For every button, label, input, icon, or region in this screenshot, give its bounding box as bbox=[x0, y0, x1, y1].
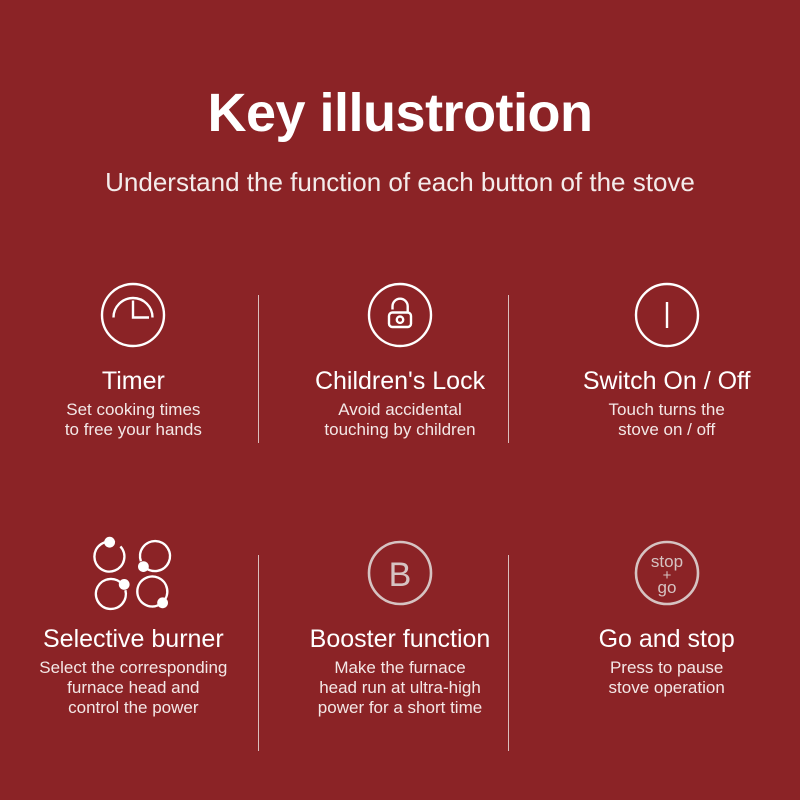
four-burners-icon bbox=[92, 530, 174, 616]
key-illustration-poster: Key illustrotion Understand the function… bbox=[0, 0, 800, 800]
header: Key illustrotion Understand the function… bbox=[0, 0, 800, 197]
feature-description: Avoid accidental touching by children bbox=[324, 400, 475, 440]
go-label: go bbox=[657, 578, 676, 597]
stop-go-icon: stop + go bbox=[630, 530, 704, 616]
desc-line: Touch turns the bbox=[609, 400, 725, 420]
desc-line: Press to pause bbox=[609, 658, 725, 678]
feature-title: Selective burner bbox=[43, 626, 224, 652]
feature-item-selective-burner: Selective burner Select the correspondin… bbox=[0, 530, 267, 770]
desc-line: Make the furnace bbox=[318, 658, 482, 678]
feature-description: Make the furnace head run at ultra-high … bbox=[318, 658, 482, 718]
padlock-icon bbox=[363, 272, 437, 358]
desc-line: head run at ultra-high bbox=[318, 678, 482, 698]
desc-line: to free your hands bbox=[65, 420, 202, 440]
feature-title: Booster function bbox=[310, 626, 491, 652]
desc-line: Avoid accidental bbox=[324, 400, 475, 420]
feature-item-booster-function: B Booster function Make the furnace head… bbox=[267, 530, 534, 770]
desc-line: Set cooking times bbox=[65, 400, 202, 420]
feature-row-top: Timer Set cooking times to free your han… bbox=[0, 272, 800, 502]
feature-title: Switch On / Off bbox=[583, 368, 751, 394]
feature-item-childrens-lock: Children's Lock Avoid accidental touchin… bbox=[267, 272, 534, 502]
feature-description: Touch turns the stove on / off bbox=[609, 400, 725, 440]
booster-letter: B bbox=[389, 556, 412, 594]
desc-line: Select the corresponding bbox=[39, 658, 227, 678]
feature-description: Set cooking times to free your hands bbox=[65, 400, 202, 440]
feature-item-timer: Timer Set cooking times to free your han… bbox=[0, 272, 267, 502]
desc-line: control the power bbox=[39, 698, 227, 718]
feature-description: Select the corresponding furnace head an… bbox=[39, 658, 227, 718]
power-icon bbox=[630, 272, 704, 358]
page-subtitle: Understand the function of each button o… bbox=[0, 168, 800, 197]
feature-item-switch-on-off: Switch On / Off Touch turns the stove on… bbox=[533, 272, 800, 502]
desc-line: power for a short time bbox=[318, 698, 482, 718]
feature-grid: Timer Set cooking times to free your han… bbox=[0, 272, 800, 502]
desc-line: touching by children bbox=[324, 420, 475, 440]
feature-title: Children's Lock bbox=[315, 368, 485, 394]
page-title: Key illustrotion bbox=[0, 86, 800, 140]
feature-title: Timer bbox=[102, 368, 165, 394]
desc-line: stove on / off bbox=[609, 420, 725, 440]
booster-b-icon: B bbox=[363, 530, 437, 616]
desc-line: stove operation bbox=[609, 678, 725, 698]
timer-icon bbox=[96, 272, 170, 358]
feature-row-bottom: Selective burner Select the correspondin… bbox=[0, 530, 800, 770]
feature-title: Go and stop bbox=[599, 626, 735, 652]
feature-item-go-and-stop: stop + go Go and stop Press to pause sto… bbox=[533, 530, 800, 770]
desc-line: furnace head and bbox=[39, 678, 227, 698]
feature-description: Press to pause stove operation bbox=[609, 658, 725, 698]
